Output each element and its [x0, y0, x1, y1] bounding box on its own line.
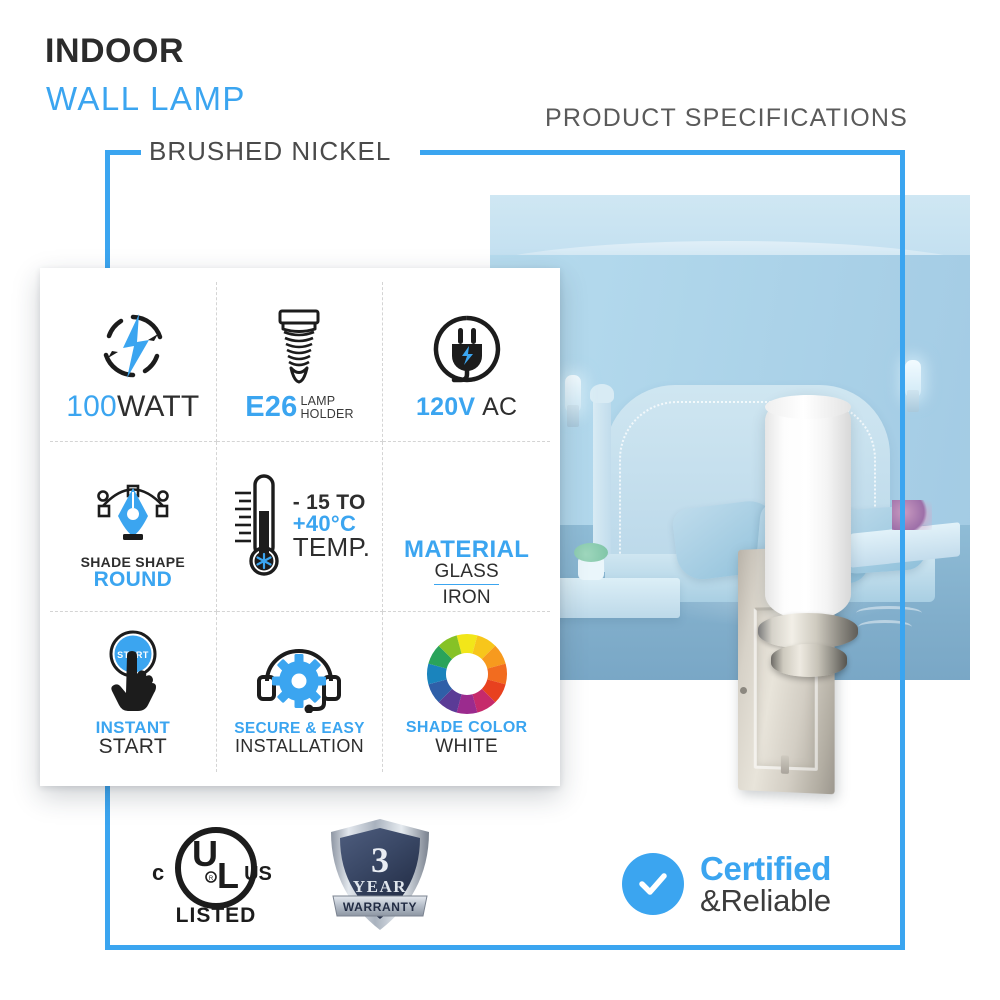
start-button-hand-icon: START	[94, 627, 172, 719]
lamp-collar-lower	[771, 644, 847, 677]
thermometer-icon: - 15 TO +40°C TEMP.	[223, 481, 377, 573]
finish-label: BRUSHED NICKEL	[141, 136, 399, 167]
ul-letter-u: U	[192, 833, 218, 874]
warranty-badge: 3 YEAR WARRANTY	[325, 816, 435, 934]
spec-cell-shade-color: SHADE COLORWHITE	[383, 612, 550, 772]
warranty-number: 3	[371, 840, 389, 880]
check-circle-icon	[622, 853, 684, 915]
spec-label-material: MATERIAL GLASS IRON	[404, 538, 529, 607]
spec-cell-temperature: - 15 TO +40°C TEMP.	[217, 442, 384, 612]
spec-label-voltage: 120V AC	[416, 395, 517, 421]
ul-suffix-us: US	[244, 863, 272, 885]
photo-background-sconce	[902, 360, 924, 412]
frame-right-segment	[900, 150, 905, 950]
infographic-stage: INDOOR WALL LAMP PRODUCT SPECIFICATIONS …	[0, 0, 1000, 1000]
wall-lamp-product-image	[718, 395, 868, 790]
ul-listed-text: LISTED	[176, 904, 257, 927]
certified-reliable-text: Certified &Reliable	[700, 852, 831, 916]
spec-cell-lamp-holder: E26LAMPHOLDER	[217, 282, 384, 442]
lamp-glass-shade	[765, 395, 851, 620]
spec-cell-shade-shape: SHADE SHAPEROUND	[50, 442, 217, 612]
certified-reliable-badge: Certified &Reliable	[622, 852, 831, 916]
photo-flowers	[892, 500, 932, 530]
headset-gear-icon	[253, 629, 345, 721]
product-specifications-heading: PRODUCT SPECIFICATIONS	[545, 104, 908, 133]
spec-cell-installation: SECURE & EASYINSTALLATION	[217, 612, 384, 772]
page-title-walllamp: WALL LAMP	[46, 80, 246, 118]
plug-icon	[432, 303, 502, 395]
ul-letter-l: L	[217, 855, 239, 896]
page-title-indoor: INDOOR	[45, 32, 184, 71]
frame-bottom-segment	[105, 945, 905, 950]
spec-label-instant-start: INSTANTSTART	[96, 719, 171, 758]
pen-nib-icon	[92, 463, 174, 555]
photo-potted-plant	[578, 558, 604, 580]
ul-listed-mark: c U L R US LISTED	[148, 818, 288, 928]
spec-label-wattage: 100WATT	[66, 392, 199, 423]
warranty-year: YEAR	[353, 877, 407, 896]
lamp-base-icon	[268, 301, 330, 393]
ul-prefix-c: c	[152, 860, 164, 885]
power-watt-icon	[97, 300, 169, 392]
spec-cell-voltage: 120V AC	[383, 282, 550, 442]
svg-text:R: R	[209, 876, 214, 882]
spec-label-installation: SECURE & EASYINSTALLATION	[234, 721, 365, 755]
warranty-word: WARRANTY	[343, 900, 417, 914]
lamp-screw	[740, 687, 747, 694]
spec-label-lamp-holder: E26LAMPHOLDER	[245, 393, 354, 423]
specification-card: 100WATT E26LA	[40, 268, 560, 786]
spec-cell-wattage: 100WATT	[50, 282, 217, 442]
spec-cell-instant-start: START INSTANTSTART	[50, 612, 217, 772]
frame-top-right-segment	[420, 150, 905, 155]
spec-cell-material: MATERIAL GLASS IRON	[383, 442, 550, 612]
photo-nightstand	[550, 578, 680, 618]
specification-grid: 100WATT E26LA	[50, 282, 550, 772]
spec-label-shade-color: SHADE COLORWHITE	[406, 720, 528, 756]
photo-background-sconce	[562, 375, 584, 427]
spec-label-shade-shape: SHADE SHAPEROUND	[81, 555, 185, 591]
spec-label-temperature: - 15 TO +40°C TEMP.	[293, 493, 371, 561]
color-wheel-icon	[425, 628, 509, 720]
